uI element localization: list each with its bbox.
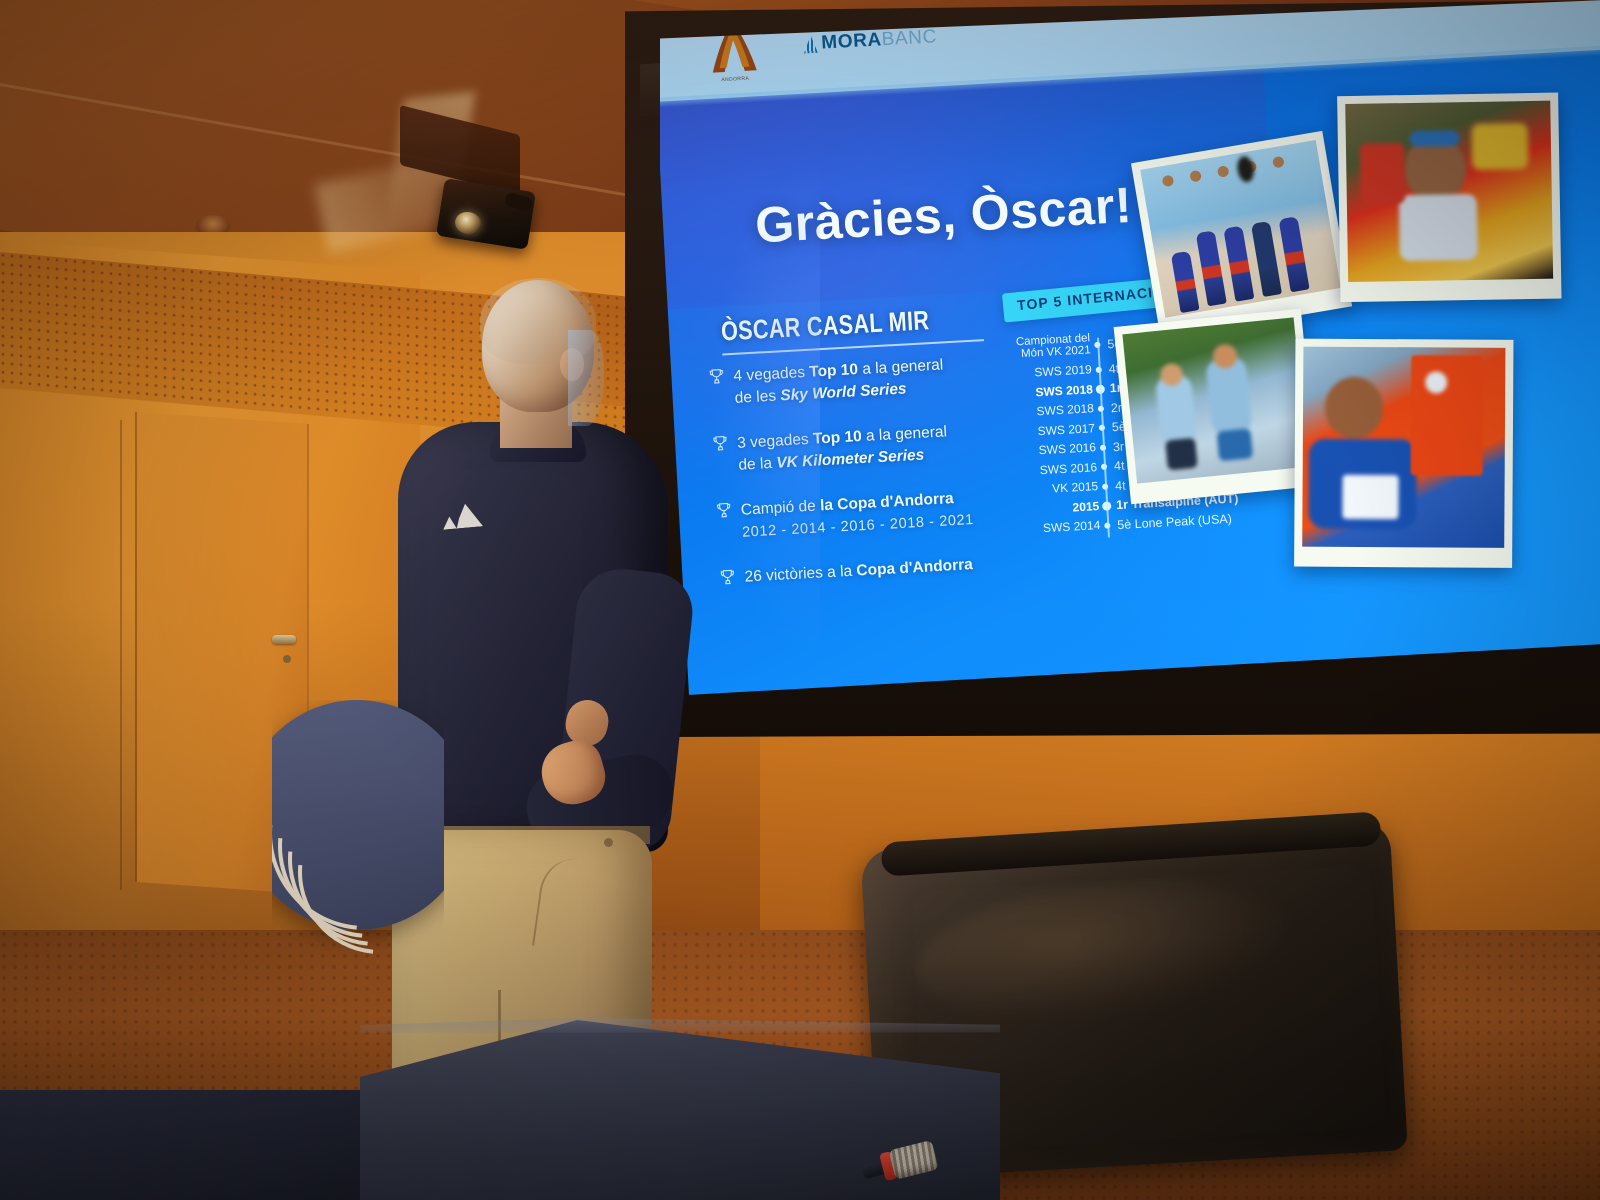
- trophy-icon: [720, 567, 736, 591]
- result-event: 2015: [999, 500, 1100, 518]
- presenter-face-highlight: [568, 330, 604, 426]
- bullet-line1-pre: 26 victòries a la: [744, 562, 857, 585]
- result-event: SWS 2016: [996, 441, 1097, 459]
- result-event: SWS 2014: [1000, 519, 1101, 537]
- result-event: SWS 2016: [997, 461, 1098, 479]
- bullet-line1-pre: 4 vegades: [733, 364, 810, 385]
- photo-finish-celebration: [1337, 93, 1561, 303]
- morabanc-label-bold: MORA: [821, 29, 883, 53]
- projected-slide: ANDORRA MORABANC Govern d'Andorra Vilado…: [660, 0, 1600, 700]
- door-handle-icon[interactable]: [272, 635, 296, 644]
- table-left-section: [0, 1090, 380, 1200]
- bullet-line1-bold: Top 10: [809, 361, 859, 381]
- photo-two-runners: [1114, 309, 1319, 505]
- bullet-line1-pre: 3 vegades: [737, 431, 814, 452]
- door-lock-icon: [283, 655, 291, 663]
- bullet-line2-pre: de la: [738, 455, 777, 474]
- bullet-line2-pre: de les: [734, 387, 781, 406]
- bullet-line1-bold: Copa d'Andorra: [856, 556, 973, 579]
- trouser-button-icon: [604, 838, 613, 847]
- morabanc-mark-icon: [803, 35, 818, 54]
- blue-circular-logo-panel: [272, 700, 444, 968]
- result-event: SWS 2018: [993, 383, 1094, 401]
- result-event: SWS 2018: [994, 402, 1095, 420]
- photo-team-group: [1131, 131, 1352, 339]
- trophy-icon: [709, 366, 726, 411]
- result-event: SWS 2017: [995, 422, 1096, 440]
- result-event: VK 2015: [998, 480, 1099, 498]
- bullet-line1-post: a la general: [861, 423, 947, 445]
- morabanc-label-light: BANC: [881, 26, 937, 50]
- bullet-line2-em: VK Kilometer Series: [776, 447, 925, 472]
- bullet-line1-post: a la general: [858, 356, 944, 378]
- list-item: 26 victòries a la Copa d'Andorra: [720, 550, 1056, 591]
- conference-room-scene: ANDORRA MORABANC Govern d'Andorra Vilado…: [0, 0, 1600, 1200]
- bullet-line1-bold: Top 10: [813, 428, 863, 448]
- trophy-icon: [716, 500, 733, 545]
- bullet-line1-pre: Campió de: [740, 497, 820, 518]
- result-event: Campionat delMón VK 2021: [990, 334, 1091, 363]
- bullet-line1-bold: la Copa d'Andorra: [820, 490, 954, 514]
- result-event: SWS 2019: [992, 364, 1093, 382]
- bullet-line2-em: Sky World Series: [780, 380, 907, 404]
- photo-portrait-award: [1294, 339, 1513, 568]
- trophy-icon: [713, 433, 730, 478]
- photo-collage: [1127, 78, 1600, 584]
